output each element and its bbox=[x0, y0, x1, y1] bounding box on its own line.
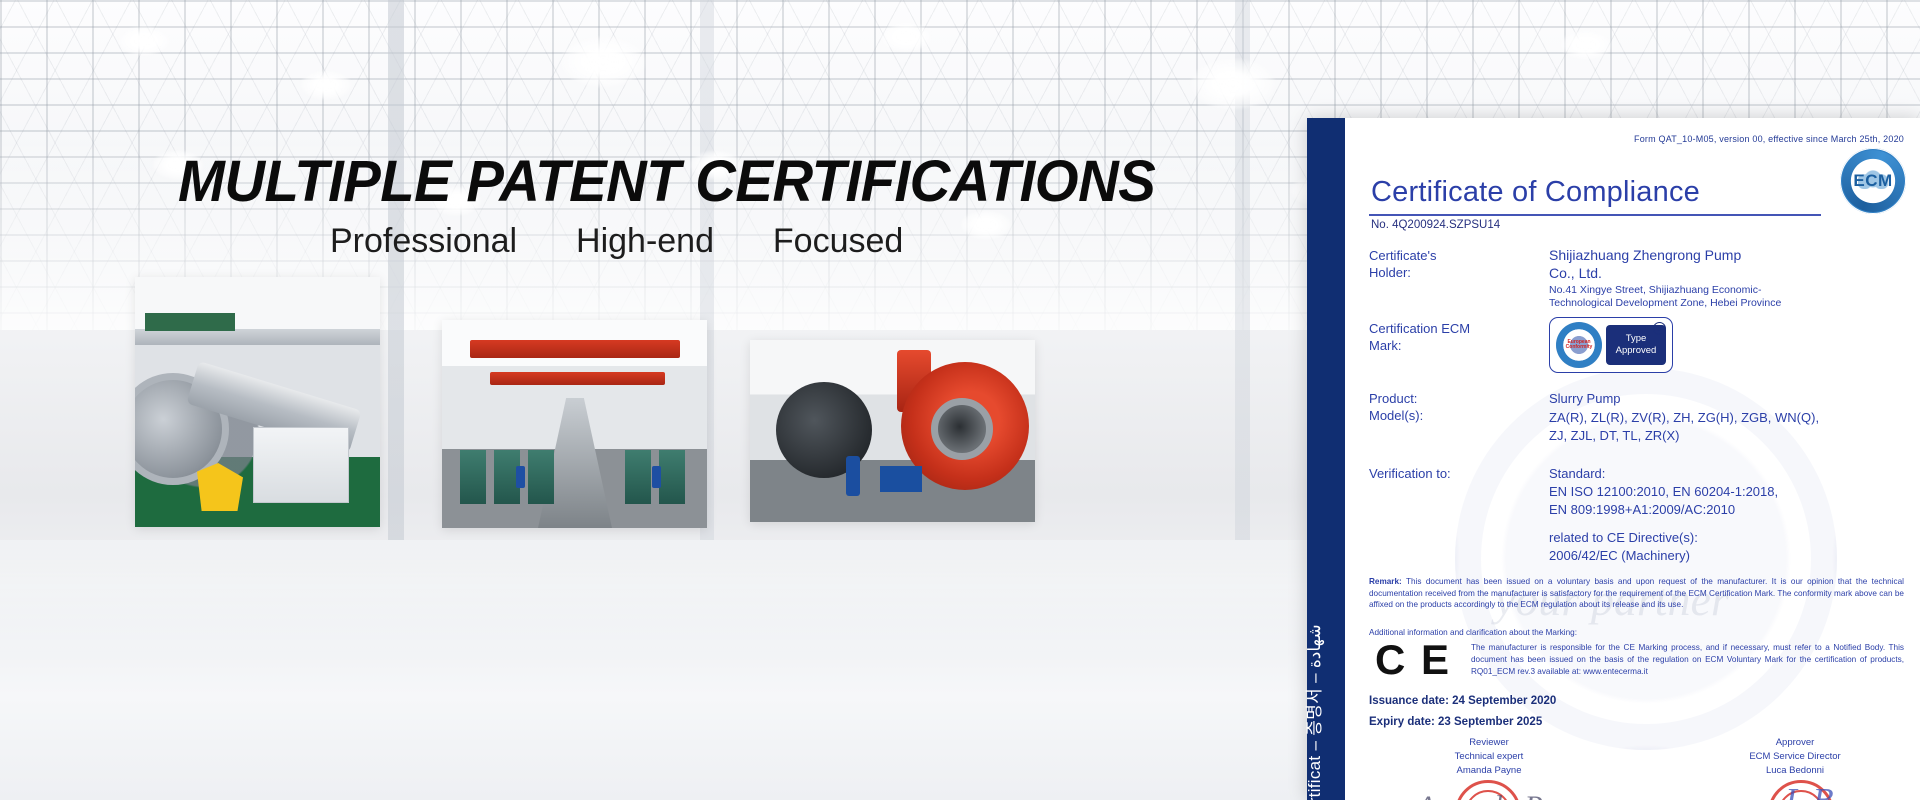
european-conformity-badge-icon: European Conformity bbox=[1556, 322, 1602, 368]
approver-name: Luca Bedonni bbox=[1710, 764, 1880, 778]
holder-name-line1: Shijiazhuang Zhengrong Pump bbox=[1549, 247, 1741, 265]
holder-address-line2: Technological Development Zone, Hebei Pr… bbox=[1549, 297, 1781, 311]
worker-figure bbox=[846, 456, 860, 496]
certification-mark-box: European Conformity Type Approved ® bbox=[1549, 317, 1673, 373]
holder-label-line1: Certificate's bbox=[1369, 248, 1437, 263]
product-value: Slurry Pump bbox=[1549, 391, 1621, 407]
form-reference-line: Form QAT_10-M05, version 00, effective s… bbox=[1634, 134, 1904, 144]
photo-content bbox=[135, 277, 380, 527]
ceiling-lamp-icon bbox=[1560, 30, 1612, 60]
machine-tool bbox=[460, 450, 486, 504]
product-label: Product: bbox=[1369, 391, 1417, 406]
expiry-date: Expiry date: 23 September 2025 bbox=[1369, 716, 1542, 728]
certificate-title: Certificate of Compliance bbox=[1371, 176, 1700, 209]
subheadline-item-high-end: High-end bbox=[576, 222, 714, 261]
directive-label: related to CE Directive(s): bbox=[1549, 530, 1698, 546]
models-label: Model(s): bbox=[1369, 408, 1423, 423]
ce-marking-icon: C E bbox=[1375, 636, 1451, 684]
type-approved-line2: Approved bbox=[1616, 345, 1657, 357]
yellow-lifting-hook bbox=[197, 463, 243, 511]
certificate-spine-text: Certificate – Сертификат – 證明書 – Certifi… bbox=[1300, 456, 1325, 800]
certificate-panel: Certificate – Сертификат – 證明書 – Certifi… bbox=[1307, 118, 1920, 800]
logo-wordmark: ECM bbox=[1853, 171, 1892, 191]
holder-label-line2: Holder: bbox=[1369, 265, 1411, 280]
photo-workshop-production-line bbox=[442, 320, 707, 528]
title-divider bbox=[1369, 214, 1821, 216]
gantry-rail bbox=[135, 329, 380, 345]
models-value-line2: ZJ, ZJL, DT, TL, ZR(X) bbox=[1549, 428, 1680, 444]
approver-block: Approver ECM Service Director Luca Bedon… bbox=[1710, 736, 1880, 777]
holder-address-line1: No.41 Xingye Street, Shijiazhuang Econom… bbox=[1549, 284, 1761, 298]
approver-role: Approver bbox=[1710, 736, 1880, 750]
verification-label: Verification to: bbox=[1369, 466, 1451, 481]
reviewer-role: Reviewer bbox=[1409, 736, 1569, 750]
issuance-date: Issuance date: 24 September 2020 bbox=[1369, 695, 1556, 707]
subheadline-item-focused: Focused bbox=[773, 222, 903, 261]
certificate-body: your partner Form QAT_10-M05, version 00… bbox=[1345, 118, 1920, 800]
mark-label-line1: Certification ECM bbox=[1369, 321, 1470, 336]
reviewer-signature: Amanda Payne bbox=[1417, 790, 1599, 800]
machine-tool bbox=[528, 450, 554, 504]
ceiling-lamp-icon bbox=[560, 36, 646, 88]
directive-value: 2006/42/EC (Machinery) bbox=[1549, 548, 1690, 564]
reviewer-title: Technical expert bbox=[1409, 750, 1569, 764]
worker-figure bbox=[652, 466, 661, 488]
standard-label: Standard: bbox=[1549, 466, 1605, 482]
subheadline-item-professional: Professional bbox=[330, 222, 517, 261]
control-cabinet bbox=[253, 427, 349, 503]
mark-label-line2: Mark: bbox=[1369, 338, 1402, 353]
photo-content bbox=[750, 340, 1035, 522]
certificate-spine: Certificate – Сертификат – 證明書 – Certifi… bbox=[1307, 118, 1345, 800]
certificate-number: No. 4Q200924.SZPSU14 bbox=[1371, 219, 1500, 231]
worker-figure bbox=[516, 466, 525, 488]
machine-tool bbox=[625, 450, 651, 504]
standard-line1: EN ISO 12100:2010, EN 60204-1:2018, bbox=[1549, 484, 1778, 500]
support-frame bbox=[880, 466, 922, 492]
ceiling-lamp-icon bbox=[300, 70, 352, 100]
holder-name-line2: Co., Ltd. bbox=[1549, 265, 1602, 283]
remark-label: Remark: bbox=[1369, 577, 1402, 586]
reviewer-block: Reviewer Technical expert Amanda Payne bbox=[1409, 736, 1569, 777]
standard-line2: EN 809:1998+A1:2009/AC:2010 bbox=[1549, 502, 1735, 518]
ecm-logo-icon: ECM bbox=[1840, 148, 1906, 214]
models-value-line1: ZA(R), ZL(R), ZV(R), ZH, ZG(H), ZGB, WN(… bbox=[1549, 410, 1819, 426]
photo-slurry-pump-assembly bbox=[750, 340, 1035, 522]
photo-content bbox=[442, 320, 707, 528]
reviewer-name: Amanda Payne bbox=[1409, 764, 1569, 778]
approver-title: ECM Service Director bbox=[1710, 750, 1880, 764]
pump-flange-hub bbox=[931, 398, 993, 460]
type-approved-line1: Type bbox=[1626, 333, 1647, 345]
remark-paragraph: Remark: This document has been issued on… bbox=[1369, 576, 1904, 611]
page-subheadline: Professional High-end Focused bbox=[330, 222, 903, 261]
ceiling-lamp-icon bbox=[880, 22, 932, 52]
ceiling-lamp-icon bbox=[1190, 58, 1276, 110]
page-headline: MULTIPLE PATENT CERTIFICATIONS bbox=[178, 148, 1129, 215]
machine-tool bbox=[659, 450, 685, 504]
overhead-crane-beam bbox=[470, 340, 680, 358]
ce-marking-paragraph: The manufacturer is responsible for the … bbox=[1471, 642, 1904, 678]
overhead-crane-beam bbox=[490, 372, 665, 385]
badge-text: European Conformity bbox=[1556, 322, 1602, 368]
approver-signature: L.B. bbox=[1785, 782, 1842, 800]
equipment-green-block bbox=[145, 313, 235, 331]
remark-body: This document has been issued on a volun… bbox=[1369, 577, 1904, 609]
photo-large-pump-installation bbox=[135, 277, 380, 527]
ceiling-lamp-icon bbox=[118, 26, 170, 56]
registered-trademark-icon: ® bbox=[1653, 322, 1666, 335]
